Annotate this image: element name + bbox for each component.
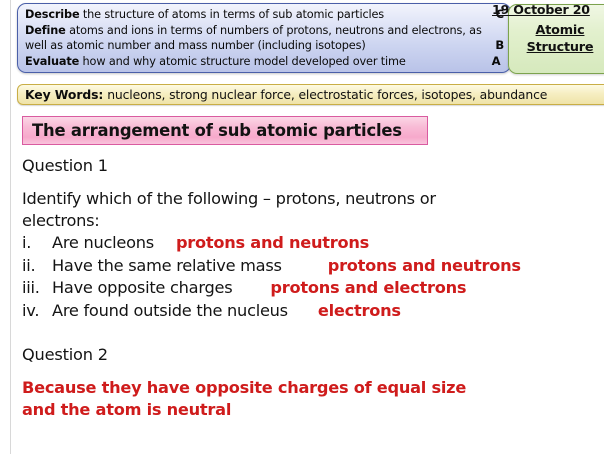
slide-title-text: The arrangement of sub atomic particles xyxy=(32,121,402,140)
list-item: ii. Have the same relative mass protons … xyxy=(22,255,602,278)
key-words-banner: Key Words: nucleons, strong nuclear forc… xyxy=(17,84,604,105)
lesson-date: 19 October 20 xyxy=(492,2,590,17)
lesson-slide: Describe the structure of atoms in terms… xyxy=(0,0,604,454)
topic-title-line-2: Structure xyxy=(527,39,594,56)
objective-row-evaluate: Evaluate how and why atomic structure mo… xyxy=(25,54,504,70)
list-item-text: Are found outside the nucleus xyxy=(52,300,288,323)
list-item-answer: electrons xyxy=(318,300,401,323)
objective-text-evaluate: Evaluate how and why atomic structure mo… xyxy=(25,54,490,70)
objective-verb-define: Define xyxy=(25,24,66,37)
list-item-answer: protons and electrons xyxy=(270,277,466,300)
list-item-numeral: i. xyxy=(22,232,52,255)
spacer-after-q1-heading xyxy=(22,176,602,188)
list-item: iv. Are found outside the nucleus electr… xyxy=(22,300,602,323)
question-2-answer: Because they have opposite charges of eq… xyxy=(22,377,492,420)
question-1-answer-list: i. Are nucleons protons and neutrons ii.… xyxy=(22,232,602,322)
question-1-prompt: Identify which of the following – proton… xyxy=(22,188,477,231)
key-words-label: Key Words: xyxy=(25,87,103,102)
slide-body: Question 1 Identify which of the followi… xyxy=(22,155,602,420)
objective-grade-evaluate: A xyxy=(490,54,504,70)
topic-title-line-1: Atomic xyxy=(536,22,585,39)
list-item-text: Are nucleons xyxy=(52,232,154,255)
list-item-text: Have the same relative mass xyxy=(52,255,282,278)
objective-verb-describe: Describe xyxy=(25,8,79,21)
question-2-heading: Question 2 xyxy=(22,344,602,365)
objective-verb-evaluate: Evaluate xyxy=(25,55,79,68)
learning-objectives-box: Describe the structure of atoms in terms… xyxy=(17,3,511,73)
slide-title-box: The arrangement of sub atomic particles xyxy=(22,116,428,145)
objective-body-describe: the structure of atoms in terms of sub a… xyxy=(79,8,384,21)
slide-left-edge-line xyxy=(10,0,11,454)
list-item: i. Are nucleons protons and neutrons xyxy=(22,232,602,255)
list-item-answer: protons and neutrons xyxy=(176,232,369,255)
list-item-text: Have opposite charges xyxy=(52,277,232,300)
objective-body-evaluate: how and why atomic structure model devel… xyxy=(79,55,406,68)
spacer-before-q2 xyxy=(22,322,602,344)
question-1-heading: Question 1 xyxy=(22,155,602,176)
objective-grade-define: B xyxy=(492,38,504,54)
list-item: iii. Have opposite charges protons and e… xyxy=(22,277,602,300)
list-item-answer: protons and neutrons xyxy=(328,255,521,278)
list-item-numeral: ii. xyxy=(22,255,52,278)
list-item-numeral: iv. xyxy=(22,300,52,323)
list-item-numeral: iii. xyxy=(22,277,52,300)
objective-row-define: Define atoms and ions in terms of number… xyxy=(25,23,504,54)
key-words-list: nucleons, strong nuclear force, electros… xyxy=(103,87,547,102)
objective-text-define: Define atoms and ions in terms of number… xyxy=(25,23,492,54)
objective-row-describe: Describe the structure of atoms in terms… xyxy=(25,7,504,23)
objective-body-define: atoms and ions in terms of numbers of pr… xyxy=(25,24,482,53)
objective-text-describe: Describe the structure of atoms in terms… xyxy=(25,7,492,23)
spacer-after-q2-heading xyxy=(22,365,602,377)
